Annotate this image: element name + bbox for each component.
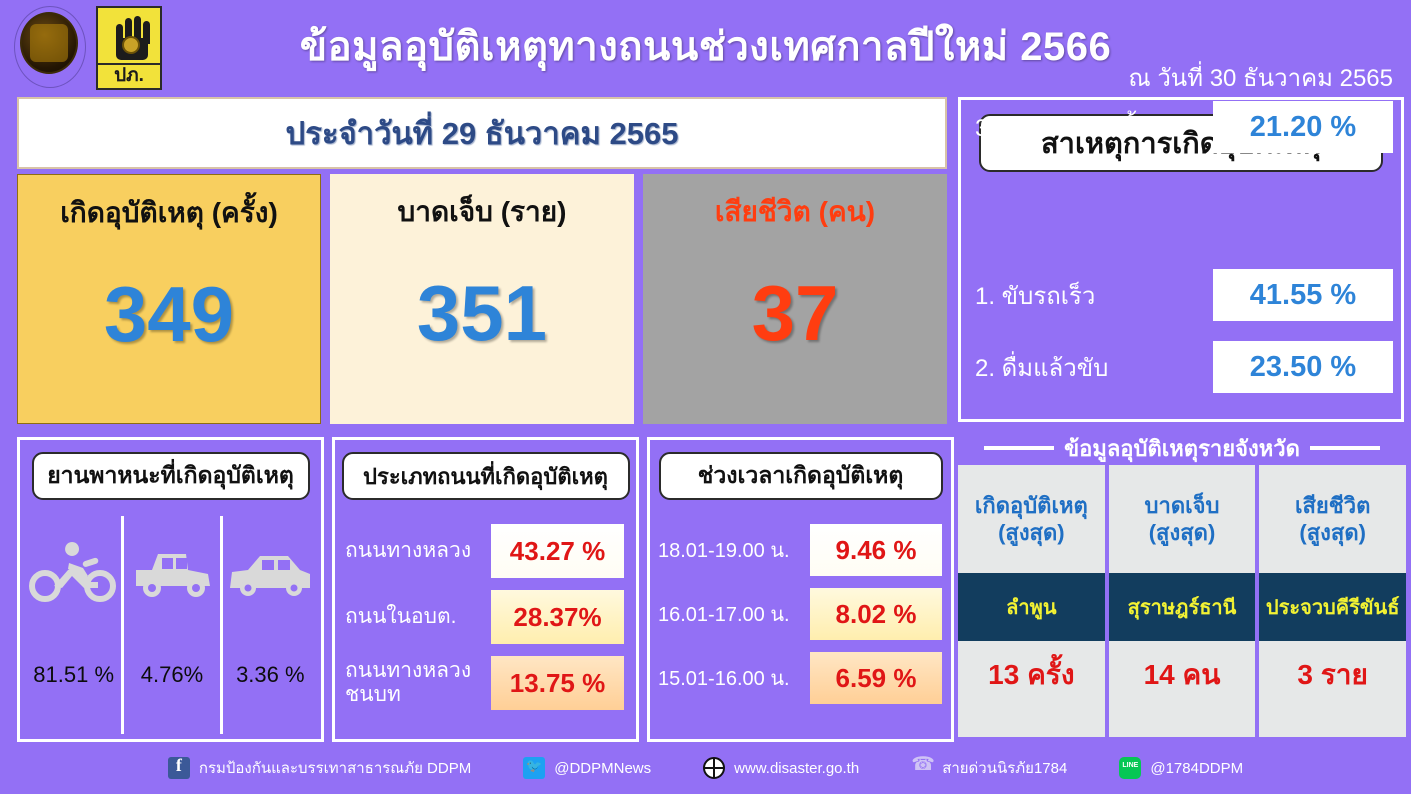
province-name-injured: สุราษฎร์ธานี xyxy=(1109,573,1256,641)
province-header-deaths: เสียชีวิต (สูงสุด) xyxy=(1259,465,1406,573)
time-period-row: 18.01-19.00 น. 9.46 % xyxy=(658,524,950,576)
kpi-label-deaths: เสียชีวิต (คน) xyxy=(643,190,947,234)
kpi-card-injured: บาดเจ็บ (ราย) 351 xyxy=(330,174,634,424)
causes-panel: สาเหตุการเกิดอุบัติเหตุ 1. ขับรถเร็ว 41.… xyxy=(958,97,1404,422)
daily-date-banner: ประจำวันที่ 29 ธันวาคม 2565 xyxy=(17,97,947,169)
vehicle-pct-car: 3.36 % xyxy=(223,662,318,688)
vehicle-pct-motorcycle: 81.51 % xyxy=(26,662,121,688)
time-period-pct-3: 6.59 % xyxy=(810,652,942,704)
province-header-line1: เกิดอุบัติเหตุ xyxy=(975,492,1088,520)
province-header-accidents: เกิดอุบัติเหตุ (สูงสุด) xyxy=(958,465,1105,573)
province-column-injured: บาดเจ็บ (สูงสุด) สุราษฎร์ธานี 14 คน xyxy=(1109,465,1256,737)
kpi-card-accidents: เกิดอุบัติเหตุ (ครั้ง) 349 xyxy=(17,174,321,424)
time-period-pct-2: 8.02 % xyxy=(810,588,942,640)
divider-right xyxy=(1310,446,1380,450)
footer-item-hotline[interactable]: สายด่วนนิรภัย1784 xyxy=(911,756,1067,780)
province-section: ข้อมูลอุบัติเหตุรายจังหวัด เกิดอุบัติเหต… xyxy=(958,433,1406,743)
road-type-row: ถนนทางหลวงชนบท 13.75 % xyxy=(345,656,633,710)
footer-label-website: www.disaster.go.th xyxy=(734,760,859,777)
road-type-pct-1: 43.27 % xyxy=(491,524,624,578)
province-name-accidents: ลำพูน xyxy=(958,573,1105,641)
vehicle-column-pickup: 4.76% xyxy=(121,516,219,734)
vehicle-column-motorcycle: 81.51 % xyxy=(26,516,121,734)
road-type-label-1: ถนนทางหลวง xyxy=(345,539,491,563)
time-period-row: 15.01-16.00 น. 6.59 % xyxy=(658,652,950,704)
cause-row: 1. ขับรถเร็ว 41.55 % xyxy=(975,268,1393,322)
footer-item-line[interactable]: @1784DDPM xyxy=(1119,757,1243,779)
road-type-pct-2: 28.37% xyxy=(491,590,624,644)
vehicles-panel-title: ยานพาหนะที่เกิดอุบัติเหตุ xyxy=(32,452,310,500)
daily-date-text: ประจำวันที่ 29 ธันวาคม 2565 xyxy=(286,108,679,158)
province-header-line1: บาดเจ็บ xyxy=(1145,492,1220,520)
cause-pct-1: 41.55 % xyxy=(1213,269,1393,321)
road-types-list: ถนนทางหลวง 43.27 % ถนนในอบต. 28.37% ถนนท… xyxy=(345,524,633,722)
footer-label-line: @1784DDPM xyxy=(1150,760,1243,777)
cause-pct-2: 23.50 % xyxy=(1213,341,1393,393)
time-period-pct-1: 9.46 % xyxy=(810,524,942,576)
facebook-icon[interactable] xyxy=(168,757,190,779)
footer-label-hotline: สายด่วนนิรภัย1784 xyxy=(942,756,1067,780)
kpi-label-injured: บาดเจ็บ (ราย) xyxy=(330,190,634,234)
page-header: ปภ. ข้อมูลอุบัติเหตุทางถนนช่วงเทศกาลปีให… xyxy=(0,0,1411,96)
footer-label-facebook: กรมป้องกันและบรรเทาสาธารณภัย DDPM xyxy=(199,756,471,780)
cause-pct-3: 21.20 % xyxy=(1213,101,1393,153)
cause-label-3: 3. ตัดหน้ากระชั้นชิด xyxy=(975,108,1213,147)
road-type-label-2: ถนนในอบต. xyxy=(345,605,491,629)
time-period-label-3: 15.01-16.00 น. xyxy=(658,662,810,694)
province-name-deaths: ประจวบคีรีขันธ์ xyxy=(1259,573,1406,641)
pickup-truck-icon xyxy=(126,542,218,607)
province-header-line2: (สูงสุด) xyxy=(1299,519,1366,547)
cause-row: 3. ตัดหน้ากระชั้นชิด 21.20 % xyxy=(975,100,1393,154)
province-column-deaths: เสียชีวิต (สูงสุด) ประจวบคีรีขันธ์ 3 ราย xyxy=(1259,465,1406,737)
province-header-injured: บาดเจ็บ (สูงสุด) xyxy=(1109,465,1256,573)
time-period-label-1: 18.01-19.00 น. xyxy=(658,534,810,566)
car-icon xyxy=(224,542,316,607)
globe-icon[interactable] xyxy=(703,757,725,779)
kpi-value-injured: 351 xyxy=(330,268,634,359)
province-column-accidents: เกิดอุบัติเหตุ (สูงสุด) ลำพูน 13 ครั้ง xyxy=(958,465,1105,737)
time-period-row: 16.01-17.00 น. 8.02 % xyxy=(658,588,950,640)
province-value-deaths: 3 ราย xyxy=(1259,641,1406,737)
twitter-icon[interactable] xyxy=(523,757,545,779)
road-types-panel: ประเภทถนนที่เกิดอุบัติเหตุ ถนนทางหลวง 43… xyxy=(332,437,639,742)
motorcycle-icon xyxy=(28,542,120,607)
kpi-value-accidents: 349 xyxy=(18,269,320,360)
cause-label-1: 1. ขับรถเร็ว xyxy=(975,276,1213,315)
footer-item-twitter[interactable]: @DDPMNews xyxy=(523,757,651,779)
province-header-line2: (สูงสุด) xyxy=(998,519,1065,547)
road-type-label-3: ถนนทางหลวงชนบท xyxy=(345,659,491,706)
kpi-label-accidents: เกิดอุบัติเหตุ (ครั้ง) xyxy=(18,191,320,235)
province-section-header: ข้อมูลอุบัติเหตุรายจังหวัด xyxy=(958,433,1406,463)
province-table: เกิดอุบัติเหตุ (สูงสุด) ลำพูน 13 ครั้ง บ… xyxy=(958,465,1406,737)
road-type-row: ถนนในอบต. 28.37% xyxy=(345,590,633,644)
line-icon[interactable] xyxy=(1119,757,1141,779)
divider-left xyxy=(984,446,1054,450)
province-header-line1: เสียชีวิต xyxy=(1295,492,1370,520)
time-period-label-2: 16.01-17.00 น. xyxy=(658,598,810,630)
cause-label-2: 2. ดื่มแล้วขับ xyxy=(975,348,1213,387)
phone-icon[interactable] xyxy=(911,757,933,779)
time-periods-list: 18.01-19.00 น. 9.46 % 16.01-17.00 น. 8.0… xyxy=(658,524,950,716)
vehicles-grid: 81.51 % 4.76% xyxy=(26,516,318,734)
road-type-pct-3: 13.75 % xyxy=(491,656,624,710)
footer-item-website[interactable]: www.disaster.go.th xyxy=(703,757,859,779)
footer-item-facebook[interactable]: กรมป้องกันและบรรเทาสาธารณภัย DDPM xyxy=(168,756,471,780)
province-section-title: ข้อมูลอุบัติเหตุรายจังหวัด xyxy=(1064,431,1300,466)
road-type-row: ถนนทางหลวง 43.27 % xyxy=(345,524,633,578)
kpi-card-group: เกิดอุบัติเหตุ (ครั้ง) 349 บาดเจ็บ (ราย)… xyxy=(17,174,947,424)
footer-label-twitter: @DDPMNews xyxy=(554,760,651,777)
road-types-panel-title: ประเภทถนนที่เกิดอุบัติเหตุ xyxy=(342,452,630,500)
province-value-accidents: 13 ครั้ง xyxy=(958,641,1105,737)
as-of-date: ณ วันที่ 30 ธันวาคม 2565 xyxy=(1128,58,1393,97)
province-header-line2: (สูงสุด) xyxy=(1149,519,1216,547)
vehicles-panel: ยานพาหนะที่เกิดอุบัติเหตุ 81.51 % xyxy=(17,437,324,742)
time-periods-panel-title: ช่วงเวลาเกิดอุบัติเหตุ xyxy=(659,452,943,500)
province-value-injured: 14 คน xyxy=(1109,641,1256,737)
vehicle-pct-pickup: 4.76% xyxy=(124,662,219,688)
kpi-card-deaths: เสียชีวิต (คน) 37 xyxy=(643,174,947,424)
vehicle-column-car: 3.36 % xyxy=(220,516,318,734)
cause-row: 2. ดื่มแล้วขับ 23.50 % xyxy=(975,340,1393,394)
kpi-value-deaths: 37 xyxy=(643,268,947,359)
time-periods-panel: ช่วงเวลาเกิดอุบัติเหตุ 18.01-19.00 น. 9.… xyxy=(647,437,954,742)
page-footer: กรมป้องกันและบรรเทาสาธารณภัย DDPM @DDPMN… xyxy=(0,742,1411,794)
